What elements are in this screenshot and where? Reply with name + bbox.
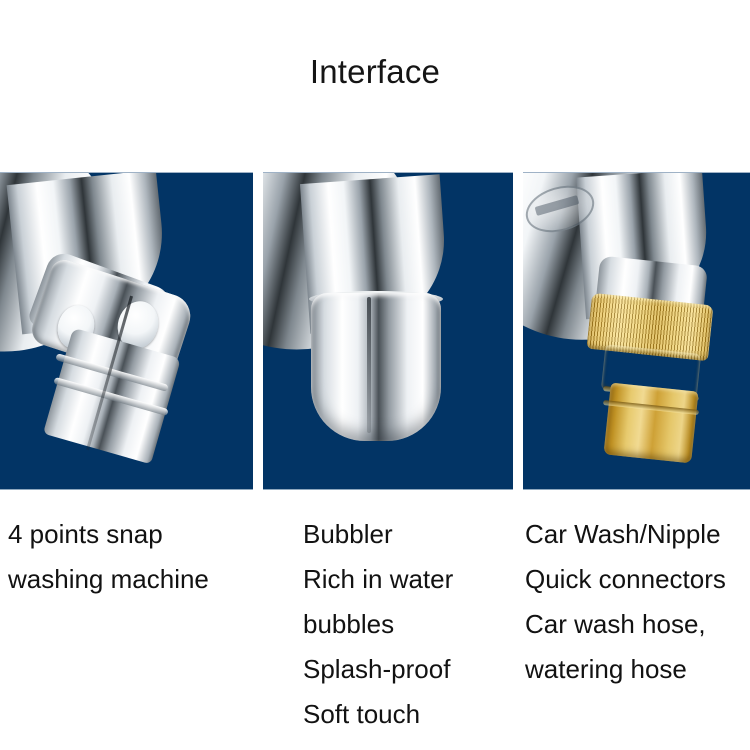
caption-line: Car Wash/Nipple <box>525 512 750 557</box>
caption-block-four-point-snap: 4 points snap washing machine <box>8 512 253 602</box>
caption-block-quick-connector: Car Wash/Nipple Quick connectors Car was… <box>525 512 750 692</box>
page-title: Interface <box>0 52 750 92</box>
product-panel-bubbler <box>263 172 513 490</box>
caption-line: Rich in water <box>303 557 513 602</box>
brass-connector-lower-icon <box>603 383 698 464</box>
product-panel-four-point-snap <box>0 172 253 490</box>
product-panel-strip <box>0 172 750 490</box>
caption-line: Car wash hose, <box>525 602 750 647</box>
caption-line: Soft touch <box>303 692 513 737</box>
bubbler-cap-icon <box>311 293 441 441</box>
caption-line: 4 points snap <box>8 512 253 557</box>
caption-line: bubbles <box>303 602 513 647</box>
caption-line: Bubbler <box>303 512 513 557</box>
caption-line: washing machine <box>8 557 253 602</box>
caption-line: Splash-proof <box>303 647 513 692</box>
chrome-seam-icon <box>367 297 371 433</box>
caption-row: 4 points snap washing machine Bubbler Ri… <box>0 490 750 750</box>
caption-line: Quick connectors <box>525 557 750 602</box>
caption-block-bubbler: Bubbler Rich in water bubbles Splash-pro… <box>303 512 513 737</box>
caption-line: watering hose <box>525 647 750 692</box>
product-panel-quick-connector <box>523 172 750 490</box>
